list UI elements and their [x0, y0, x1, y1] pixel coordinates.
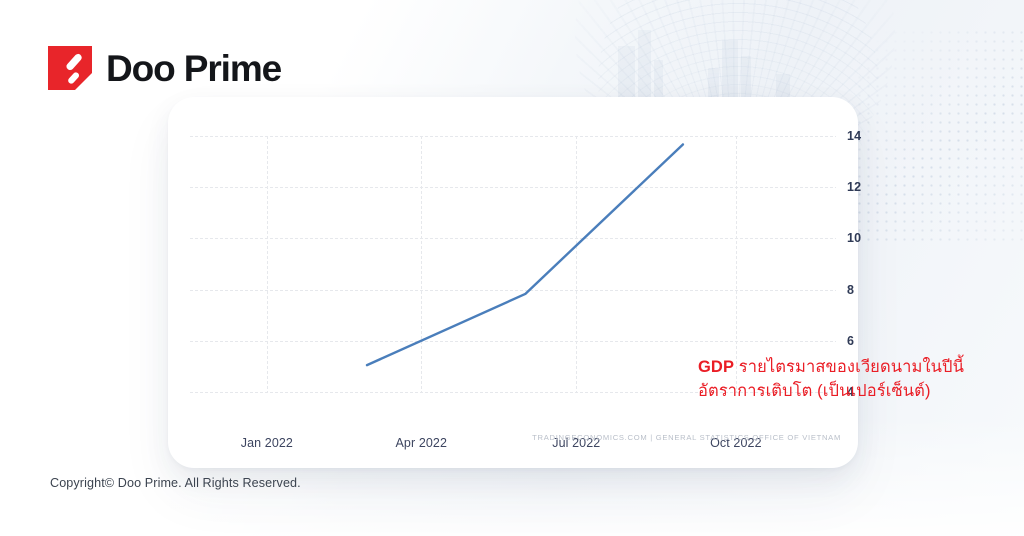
chart-callout-text: GDP รายไตรมาสของเวียดนามในปีนี้ อัตราการ…	[698, 355, 998, 404]
callout-emphasis: GDP	[698, 358, 734, 376]
doo-prime-logo-icon	[48, 46, 92, 90]
y-axis-tick-label: 8	[847, 283, 854, 297]
y-axis-tick-label: 14	[847, 129, 861, 143]
chart-plot-area: 14 12 10 8 6 4 Jan 2022 Apr 2022 Jul 202…	[190, 136, 836, 392]
x-axis-tick-label: Apr 2022	[395, 436, 447, 450]
gdp-growth-line-series	[190, 136, 836, 392]
copyright-text: Copyright© Doo Prime. All Rights Reserve…	[50, 476, 301, 490]
x-axis-tick-label: Jan 2022	[241, 436, 293, 450]
y-axis-tick-label: 6	[847, 334, 854, 348]
y-axis-tick-label: 10	[847, 231, 861, 245]
callout-line-1: GDP รายไตรมาสของเวียดนามในปีนี้	[698, 355, 998, 379]
callout-line-2: อัตราการเติบโต (เป็นเปอร์เซ็นต์)	[698, 379, 998, 403]
chart-attribution: TRADINGECONOMICS.COM | GENERAL STATISTIC…	[532, 433, 841, 442]
background-skyline-watermark	[600, 0, 860, 108]
callout-line-1-rest: รายไตรมาสของเวียดนามในปีนี้	[734, 358, 964, 376]
chart-card: 14 12 10 8 6 4 Jan 2022 Apr 2022 Jul 202…	[168, 97, 858, 468]
brand-logo: Doo Prime	[48, 46, 281, 90]
background-dot-pattern	[855, 28, 1024, 243]
brand-name: Doo Prime	[106, 50, 281, 87]
y-axis-tick-label: 12	[847, 180, 861, 194]
